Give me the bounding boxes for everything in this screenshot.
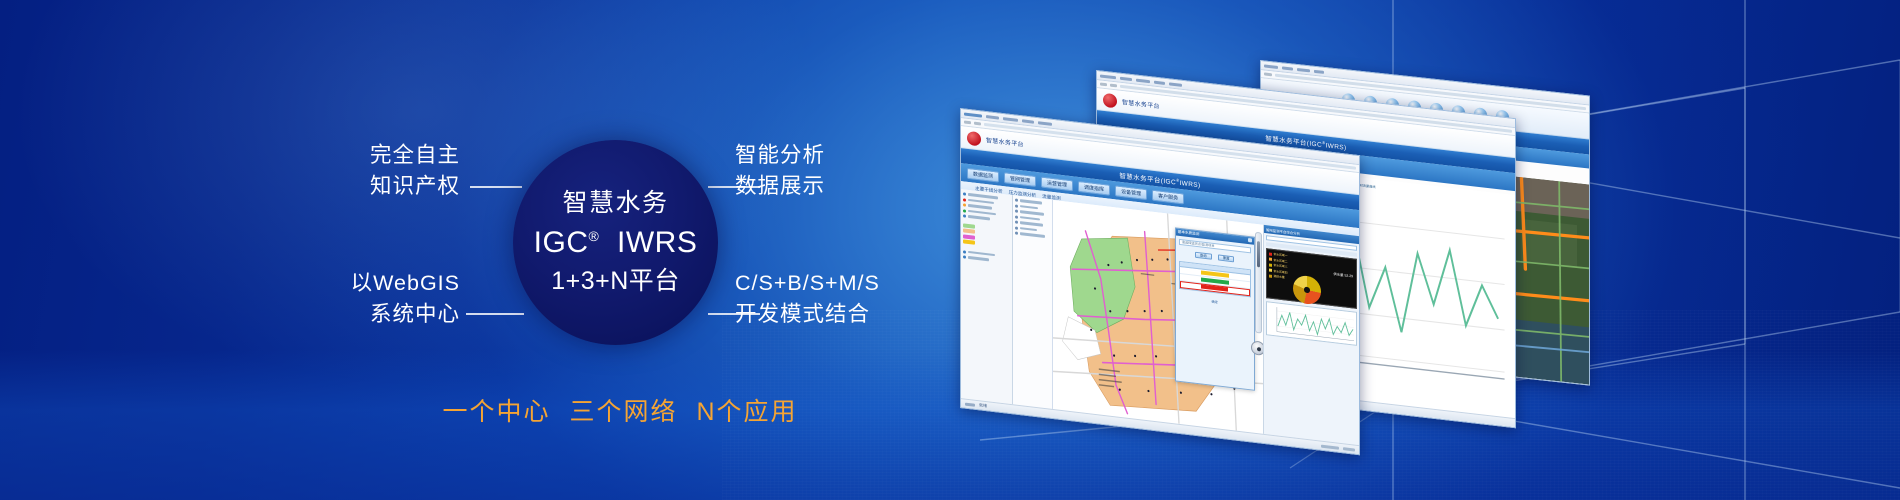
nav-button[interactable]: 客户服务 (1152, 189, 1184, 204)
menu-item[interactable] (1297, 67, 1310, 71)
feature-bottom-right: C/S+B/S+M/S 开发模式结合 (735, 268, 880, 329)
feature-bottom-left: 以WebGIS 系统中心 (290, 268, 460, 329)
feature-bottom-left-line2: 系统中心 (290, 299, 460, 330)
feature-list-panel[interactable] (1013, 195, 1053, 409)
feature-top-right-line2: 数据展示 (735, 171, 825, 202)
side-panel-content: 供水区域一 供水区域二 供水区域三 供水区域四 漏损水量 供水量 52.29 (1264, 233, 1359, 348)
pie-chart-caption: 供水量 52.29 (1333, 271, 1353, 278)
tagline-part-3: N个应用 (696, 398, 797, 426)
brand-label: 智慧水务平台 (986, 135, 1024, 148)
menu-item[interactable] (964, 112, 982, 117)
feature-bottom-right-line1: C/S+B/S+M/S (735, 268, 880, 299)
tagline: 一个中心 三个网络 N个应用 (300, 392, 940, 428)
sparkline-chart (1267, 302, 1356, 345)
feature-diagram: 智慧水务 IGC® IWRS 1+3+N平台 完全自主 知识产权 以WebGIS… (0, 0, 1000, 500)
reset-button[interactable]: 重置 (1218, 254, 1235, 262)
menu-item[interactable] (1314, 69, 1324, 73)
status-coordinates (1321, 444, 1339, 449)
map-legend-swatches (963, 223, 1010, 249)
feature-top-left: 完全自主 知识产权 (300, 140, 460, 201)
legend-swatch-green (963, 223, 975, 228)
pie-chart-panel: 供水区域一 供水区域二 供水区域三 供水区域四 漏损水量 供水量 52.29 (1266, 248, 1357, 309)
menu-item[interactable] (1154, 80, 1165, 84)
menu-item[interactable] (1264, 64, 1278, 69)
tagline-part-2: 三个网络 (569, 398, 677, 426)
legend-entry: 漏损水量 (1269, 273, 1288, 279)
status-scale (1343, 447, 1355, 451)
back-icon[interactable] (1100, 82, 1107, 86)
back-icon[interactable] (964, 120, 971, 124)
status-icon (965, 402, 975, 406)
query-dialog-front[interactable]: 基本水质监测 请选择监测点/监测项目 查询 重置 (1175, 227, 1255, 391)
application-screenshot-stack: 智慧水务平台(IGC®IWRS) 数据监测 管网管理 运营管理 调度指挥 (960, 40, 1900, 470)
menu-item[interactable] (1022, 119, 1034, 123)
layer-tree-panel[interactable] (961, 189, 1013, 404)
menu-item[interactable] (1003, 117, 1018, 122)
hub-title-en-iwrs: IWRS (617, 226, 697, 259)
hero-banner: 智慧水务 IGC® IWRS 1+3+N平台 完全自主 知识产权 以WebGIS… (0, 0, 1900, 500)
feature-bottom-right-line2: 开发模式结合 (735, 299, 880, 330)
connector-line-top-left (470, 186, 522, 188)
dialog-content: 请选择监测点/监测项目 查询 重置 (1176, 235, 1254, 311)
hub-title-cn: 智慧水务 (562, 188, 668, 220)
gis-map-canvas[interactable]: 基本水质监测 请选择监测点/监测项目 查询 重置 (1053, 200, 1263, 434)
menu-item[interactable] (1038, 121, 1052, 126)
feature-top-left-line2: 知识产权 (300, 171, 460, 202)
legend-swatch-orange (963, 228, 975, 233)
hub-circle: 智慧水务 IGC® IWRS 1+3+N平台 (513, 140, 718, 345)
feature-bottom-left-line1: 以WebGIS (290, 268, 460, 299)
brand-label: 智慧水务平台 (1122, 97, 1160, 110)
feature-top-right-line1: 智能分析 (735, 140, 825, 171)
back-icon[interactable] (1264, 72, 1272, 76)
nav-button[interactable]: 数据监测 (967, 167, 999, 182)
app-window-front[interactable]: 智慧水务平台 智慧水务平台(IGC®IWRS) 数据监测 管网管理 运营管理 调… (960, 108, 1360, 455)
feature-top-left-line1: 完全自主 (300, 140, 460, 171)
forward-icon[interactable] (974, 122, 981, 126)
nav-button[interactable]: 运营管理 (1041, 176, 1073, 191)
forward-icon[interactable] (1110, 84, 1117, 88)
results-table (1179, 260, 1251, 296)
tagline-part-1: 一个中心 (443, 398, 551, 426)
legend-swatch-yellow (963, 239, 975, 244)
sparkline-panel (1266, 301, 1357, 346)
pie-legend: 供水区域一 供水区域二 供水区域三 供水区域四 漏损水量 (1269, 251, 1288, 281)
hub-platform-label: 1+3+N平台 (551, 265, 680, 298)
nav-button[interactable]: 设备管理 (1115, 185, 1147, 200)
registered-mark-icon: ® (589, 228, 600, 244)
dialog-footer[interactable]: 确定 (1179, 294, 1251, 307)
menu-item[interactable] (1282, 66, 1293, 70)
hub-title-en: IGC® IWRS (534, 223, 698, 262)
map-vertical-scrollbar[interactable] (1255, 232, 1262, 333)
menu-item[interactable] (1120, 76, 1132, 80)
query-button[interactable]: 查询 (1195, 251, 1212, 259)
hub-title-en-igc: IGC (534, 226, 589, 259)
connector-line-bottom-left (466, 313, 524, 315)
window-body-front: 基本水质监测 请选择监测点/监测项目 查询 重置 (961, 189, 1359, 454)
menu-item[interactable] (1100, 74, 1116, 79)
analysis-side-panel: 管网监测平台综合分析 供水区域一 供水区域二 供水区域三 供水区域四 (1263, 225, 1359, 445)
nav-button[interactable]: 管网管理 (1004, 172, 1036, 187)
legend-swatch-magenta (963, 234, 975, 239)
company-logo-icon (1103, 92, 1117, 108)
nav-button[interactable]: 调度指挥 (1078, 180, 1110, 195)
menu-item[interactable] (1136, 78, 1150, 83)
menu-item[interactable] (1169, 82, 1182, 86)
status-text: 就绪 (979, 402, 987, 409)
menu-item[interactable] (986, 115, 999, 120)
close-icon[interactable] (1248, 238, 1252, 242)
pie-chart (1293, 274, 1321, 305)
feature-top-right: 智能分析 数据展示 (735, 140, 825, 201)
company-logo-icon (967, 130, 981, 146)
